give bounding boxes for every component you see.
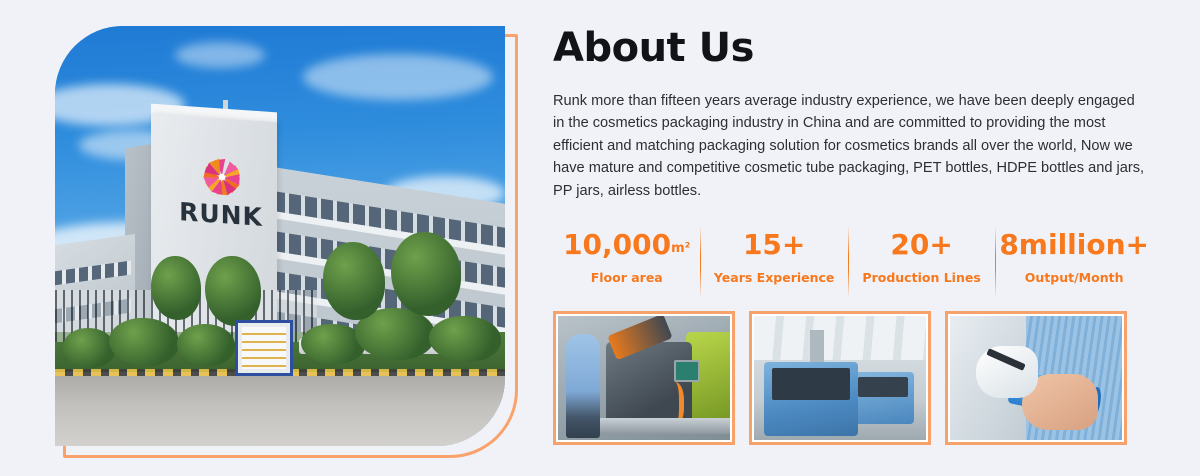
thumbnail-production-hall[interactable] — [749, 311, 931, 445]
factory-building-photo[interactable]: RUNK — [55, 26, 505, 446]
moulding-machine-far — [852, 372, 914, 424]
notice-board — [235, 320, 293, 376]
stat-value: 15+ — [704, 230, 843, 261]
notice-board-content — [242, 327, 286, 369]
stat-label: Production Lines — [852, 270, 991, 285]
tree — [151, 256, 201, 320]
shrub — [109, 318, 179, 366]
cloud-icon — [303, 54, 493, 100]
page-title: About Us — [553, 28, 1184, 68]
stat-production-lines: 20+ Production Lines — [848, 224, 995, 295]
white-glove — [976, 346, 1038, 398]
stat-label: Years Experience — [704, 270, 843, 285]
moulding-machine-near — [764, 362, 858, 436]
thumbnail-image — [558, 316, 730, 440]
control-panel — [674, 360, 700, 382]
about-content-column: About Us Runk more than fifteen years av… — [545, 0, 1200, 476]
stat-value: 20+ — [852, 230, 991, 261]
stat-floor-area: 10,000m² Floor area — [553, 224, 700, 295]
thumbnail-image — [754, 316, 926, 440]
about-us-section: RUNK — [0, 0, 1200, 476]
stat-label: Output/Month — [999, 270, 1149, 285]
about-description: Runk more than fifteen years average ind… — [553, 90, 1145, 202]
stat-number: 10,000 — [563, 228, 671, 261]
thumbnail-tube-inspection[interactable] — [945, 311, 1127, 445]
tree — [205, 256, 261, 326]
tree — [323, 242, 385, 320]
shrub — [429, 316, 501, 362]
window-band — [55, 261, 131, 286]
hero-image-frame: RUNK — [55, 26, 510, 450]
tree — [391, 232, 461, 316]
stat-output-per-month: 8million+ Output/Month — [995, 224, 1153, 295]
stat-number: 20+ — [890, 228, 952, 261]
stat-unit: m² — [671, 241, 690, 256]
runk-building-signage: RUNK — [173, 147, 269, 250]
thumbnail-image — [950, 316, 1122, 440]
machine-green-unit — [686, 332, 730, 432]
cloud-icon — [175, 42, 265, 68]
conveyor-belt — [588, 418, 730, 434]
stat-label: Floor area — [557, 270, 696, 285]
worker-figure — [566, 334, 600, 438]
stat-value: 10,000m² — [557, 230, 696, 261]
pinwheel-flower-logo-icon — [195, 148, 249, 206]
road — [55, 370, 505, 446]
air-duct — [810, 330, 824, 366]
stat-number: 15+ — [743, 228, 805, 261]
hero-image-column: RUNK — [0, 0, 545, 476]
stats-row: 10,000m² Floor area 15+ Years Experience… — [553, 224, 1153, 295]
stat-number: 8million+ — [999, 228, 1149, 261]
thumbnail-printing-machine[interactable] — [553, 311, 735, 445]
ceiling-lights — [754, 316, 926, 360]
shrub — [63, 328, 115, 368]
stat-years-experience: 15+ Years Experience — [700, 224, 847, 295]
brand-name-text: RUNK — [173, 197, 269, 233]
factory-thumbnails-row — [553, 311, 1184, 445]
shrub — [177, 324, 235, 366]
stat-value: 8million+ — [999, 230, 1149, 261]
